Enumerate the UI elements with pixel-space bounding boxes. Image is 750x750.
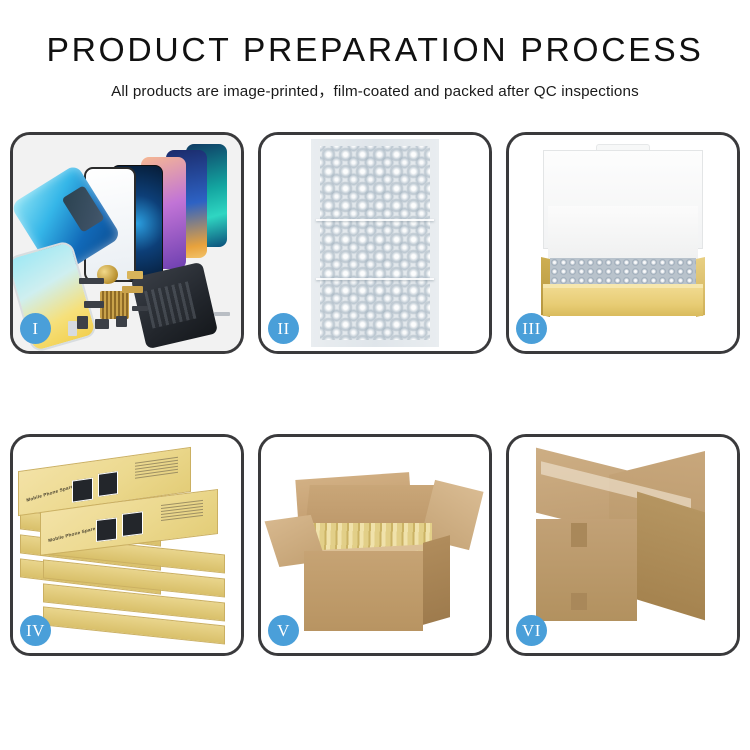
chip-grid-icon	[100, 291, 130, 319]
part-sensor-icon	[116, 316, 127, 327]
box-front-panel	[543, 288, 703, 316]
carton-side-wall	[423, 535, 450, 625]
step-badge-2: II	[268, 313, 299, 344]
step-badge-1: I	[20, 313, 51, 344]
part-button-icon	[95, 319, 109, 330]
process-step-panel-2: II	[258, 132, 492, 354]
process-step-panel-1: I	[10, 132, 244, 354]
box-print-screen-a-lower	[96, 517, 117, 542]
part-camera-icon	[77, 316, 88, 329]
process-step-panel-4: Mobile Phone Spare Parts Mobile Phone Sp…	[10, 434, 244, 656]
bubble-wrap-seam-top	[316, 219, 435, 221]
process-steps-grid: I II	[0, 132, 750, 656]
step-badge-4: IV	[20, 615, 51, 646]
box-print-screen-b-top	[97, 471, 118, 496]
part-screw-icon	[214, 312, 230, 316]
part-flex-a-icon	[127, 271, 143, 279]
box-print-screen-a-top	[72, 477, 93, 502]
box-print-screen-b-lower	[122, 511, 143, 536]
product-preparation-process-page: PRODUCT PREPARATION PROCESS All products…	[0, 0, 750, 750]
carton-front-face	[536, 519, 636, 621]
process-step-panel-6: VI	[506, 434, 740, 656]
part-bracket-icon	[84, 301, 105, 307]
step-badge-3: III	[516, 313, 547, 344]
part-flex-b-icon	[122, 286, 143, 292]
process-step-panel-3: III	[506, 132, 740, 354]
box-print-spec-lines-top	[135, 456, 178, 480]
header: PRODUCT PREPARATION PROCESS All products…	[0, 0, 750, 101]
page-subtitle: All products are image-printed，film-coat…	[0, 79, 750, 101]
bubble-wrap-bubbles-layer-2	[320, 146, 429, 340]
carton-handle-tab-upper	[571, 523, 587, 547]
page-title: PRODUCT PREPARATION PROCESS	[0, 32, 750, 68]
step-badge-5: V	[268, 615, 299, 646]
process-step-panel-5: V	[258, 434, 492, 656]
bubble-wrap-seam-bottom	[316, 278, 435, 280]
step-badge-6: VI	[516, 615, 547, 646]
carton-right-face	[637, 491, 705, 620]
part-speaker-icon	[79, 278, 104, 284]
carton-handle-tab-lower	[571, 593, 587, 610]
box-print-spec-lines-lower	[161, 499, 203, 522]
part-sim-tray-icon	[68, 321, 77, 336]
carton-front-wall	[304, 551, 423, 631]
part-cable-icon	[132, 306, 148, 311]
